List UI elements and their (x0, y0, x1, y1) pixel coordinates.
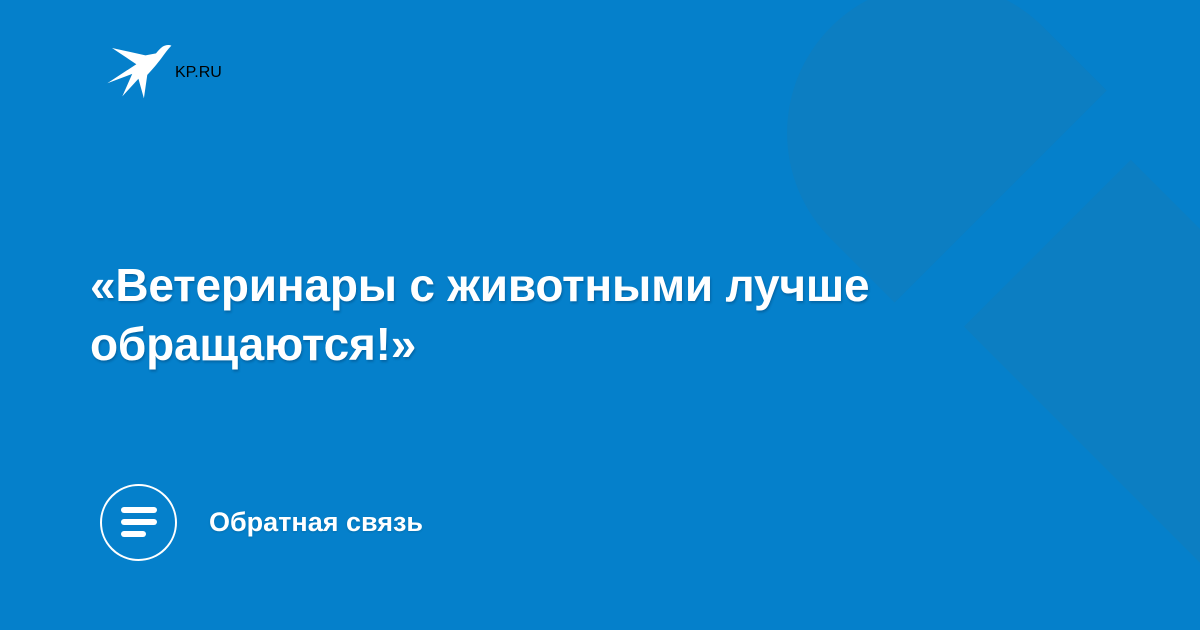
site-logo[interactable]: KP.RU (103, 36, 222, 110)
feedback-label: Обратная связь (209, 509, 423, 536)
swallow-bird-icon (103, 37, 175, 109)
page-title: «Ветеринары с животными лучше обращаются… (90, 256, 1100, 374)
share-card: KP.RU «Ветеринары с животными лучше обра… (0, 0, 1200, 630)
logo-wordmark: KP.RU (175, 64, 222, 82)
hamburger-line-3 (121, 531, 146, 537)
feedback-button[interactable]: Обратная связь (100, 483, 423, 561)
hamburger-line-1 (121, 507, 157, 513)
hamburger-lines-icon[interactable] (100, 484, 177, 561)
hamburger-line-2 (121, 519, 157, 525)
